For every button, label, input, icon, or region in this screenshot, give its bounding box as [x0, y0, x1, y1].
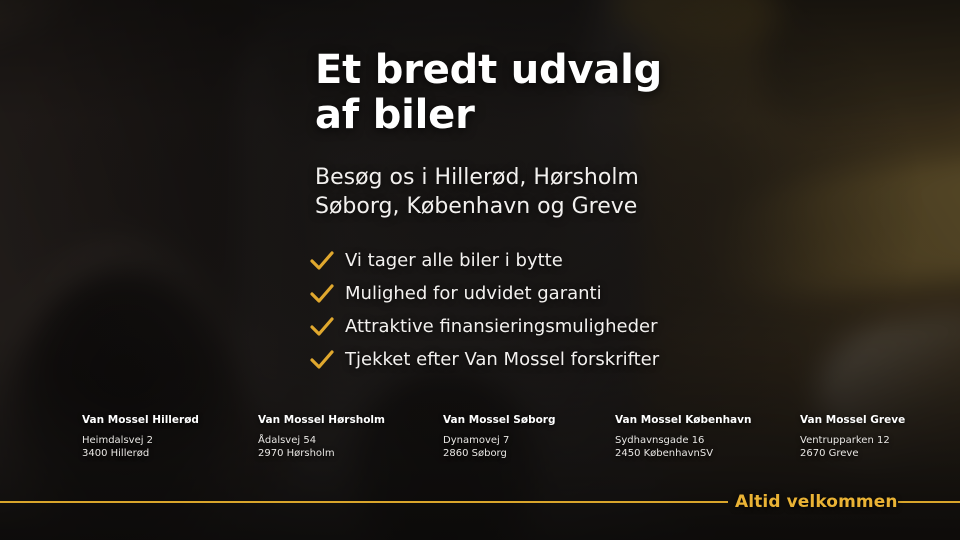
location-name: Van Mossel Hørsholm	[258, 414, 385, 427]
location-street: Sydhavnsgade 16	[615, 434, 751, 447]
location-city: 2860 Søborg	[443, 447, 556, 460]
location-address: Heimdalsvej 2 3400 Hillerød	[82, 434, 199, 460]
headline: Et bredt udvalg af biler	[315, 48, 662, 138]
location-column: Van Mossel København Sydhavnsgade 16 245…	[615, 414, 751, 460]
location-column: Van Mossel Greve Ventrupparken 12 2670 G…	[800, 414, 905, 460]
location-city: 2970 Hørsholm	[258, 447, 385, 460]
location-address: Ventrupparken 12 2670 Greve	[800, 434, 905, 460]
check-icon	[310, 349, 334, 371]
gold-divider-left	[0, 501, 728, 503]
location-name: Van Mossel Hillerød	[82, 414, 199, 427]
location-address: Dynamovej 7 2860 Søborg	[443, 434, 556, 460]
banner-content: Et bredt udvalg af biler Besøg os i Hill…	[0, 0, 960, 540]
tagline: Altid velkommen	[735, 490, 898, 514]
gold-divider-right	[898, 501, 960, 503]
location-street: Heimdalsvej 2	[82, 434, 199, 447]
location-street: Dynamovej 7	[443, 434, 556, 447]
location-address: Ådalsvej 54 2970 Hørsholm	[258, 434, 385, 460]
headline-line-1: Et bredt udvalg	[315, 47, 662, 93]
location-city: 3400 Hillerød	[82, 447, 199, 460]
benefit-label: Vi tager alle biler i bytte	[345, 250, 563, 272]
location-name: Van Mossel Greve	[800, 414, 905, 427]
location-column: Van Mossel Hørsholm Ådalsvej 54 2970 Hør…	[258, 414, 385, 460]
location-address: Sydhavnsgade 16 2450 KøbenhavnSV	[615, 434, 751, 460]
location-street: Ådalsvej 54	[258, 434, 385, 447]
list-item: Vi tager alle biler i bytte	[310, 246, 659, 276]
benefit-label: Attraktive finansieringsmuligheder	[345, 316, 657, 338]
list-item: Attraktive finansieringsmuligheder	[310, 312, 659, 342]
benefit-label: Mulighed for udvidet garanti	[345, 283, 602, 305]
location-name: Van Mossel Søborg	[443, 414, 556, 427]
location-city: 2670 Greve	[800, 447, 905, 460]
check-icon	[310, 283, 334, 305]
location-column: Van Mossel Søborg Dynamovej 7 2860 Søbor…	[443, 414, 556, 460]
list-item: Tjekket efter Van Mossel forskrifter	[310, 345, 659, 375]
benefits-list: Vi tager alle biler i bytte Mulighed for…	[310, 246, 659, 378]
list-item: Mulighed for udvidet garanti	[310, 279, 659, 309]
location-street: Ventrupparken 12	[800, 434, 905, 447]
benefit-label: Tjekket efter Van Mossel forskrifter	[345, 349, 659, 371]
check-icon	[310, 316, 334, 338]
location-name: Van Mossel København	[615, 414, 751, 427]
dealership-locations: Van Mossel Hillerød Heimdalsvej 2 3400 H…	[0, 414, 960, 470]
promo-banner: Et bredt udvalg af biler Besøg os i Hill…	[0, 0, 960, 540]
subheadline-line-1: Besøg os i Hillerød, Hørsholm	[315, 165, 639, 190]
subheadline: Besøg os i Hillerød, Hørsholm Søborg, Kø…	[315, 163, 639, 221]
check-icon	[310, 250, 334, 272]
subheadline-line-2: Søborg, København og Greve	[315, 192, 639, 221]
headline-line-2: af biler	[315, 93, 662, 138]
location-city: 2450 KøbenhavnSV	[615, 447, 751, 460]
location-column: Van Mossel Hillerød Heimdalsvej 2 3400 H…	[82, 414, 199, 460]
